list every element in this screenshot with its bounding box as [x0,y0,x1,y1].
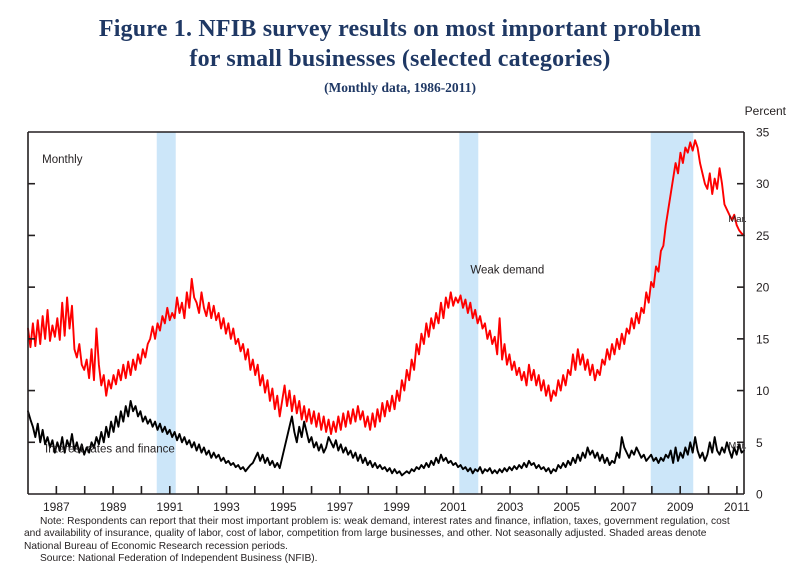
chart-plot-area: 0510152025303519871989199119931995199719… [0,0,800,520]
x-axis-tick-label-1995: 1995 [270,500,297,514]
note-line-2: and availability of insurance, quality o… [24,528,780,540]
x-axis-tick-label-2011: 2011 [724,500,750,514]
weak-demand-label: Weak demand [470,265,544,277]
x-axis-tick-label-1987: 1987 [43,500,70,514]
y-axis-tick-label-5: 5 [756,436,763,450]
x-axis-tick-label-1993: 1993 [213,500,240,514]
interest-rates-label: Interest rates and finance [45,444,175,456]
y-axis-tick-label-25: 25 [756,229,770,243]
x-axis-tick-label-1989: 1989 [100,500,127,514]
series-line-weak-demand [28,140,744,434]
x-axis-tick-label-2009: 2009 [667,500,694,514]
x-axis-tick-label-2001: 2001 [440,500,467,514]
x-axis-tick-label-1991: 1991 [156,500,183,514]
y-axis-tick-label-0: 0 [756,488,763,502]
x-axis-tick-label-2007: 2007 [610,500,637,514]
note-line-3: National Bureau of Economic Research rec… [24,541,780,553]
y-axis-tick-label-15: 15 [756,332,770,346]
figure-container: Figure 1. NFIB survey results on most im… [0,0,800,575]
y-axis-tick-label-10: 10 [756,384,770,398]
x-axis-tick-label-2003: 2003 [497,500,524,514]
x-axis-tick-label-2005: 2005 [553,500,580,514]
note-line-1: Note: Respondents can report that their … [24,516,780,528]
source-line: Source: National Federation of Independe… [24,553,780,565]
monthly-label: Monthly [42,154,83,166]
y-axis-tick-label-35: 35 [756,126,770,140]
x-axis-tick-label-1997: 1997 [327,500,354,514]
figure-notes: Note: Respondents can report that their … [24,516,780,566]
x-axis-tick-label-1999: 1999 [383,500,410,514]
y-axis-tick-label-30: 30 [756,177,770,191]
black-mar-label: Mar. [728,440,746,451]
y-axis-tick-label-20: 20 [756,281,770,295]
red-mar-label: Mar. [728,214,746,225]
